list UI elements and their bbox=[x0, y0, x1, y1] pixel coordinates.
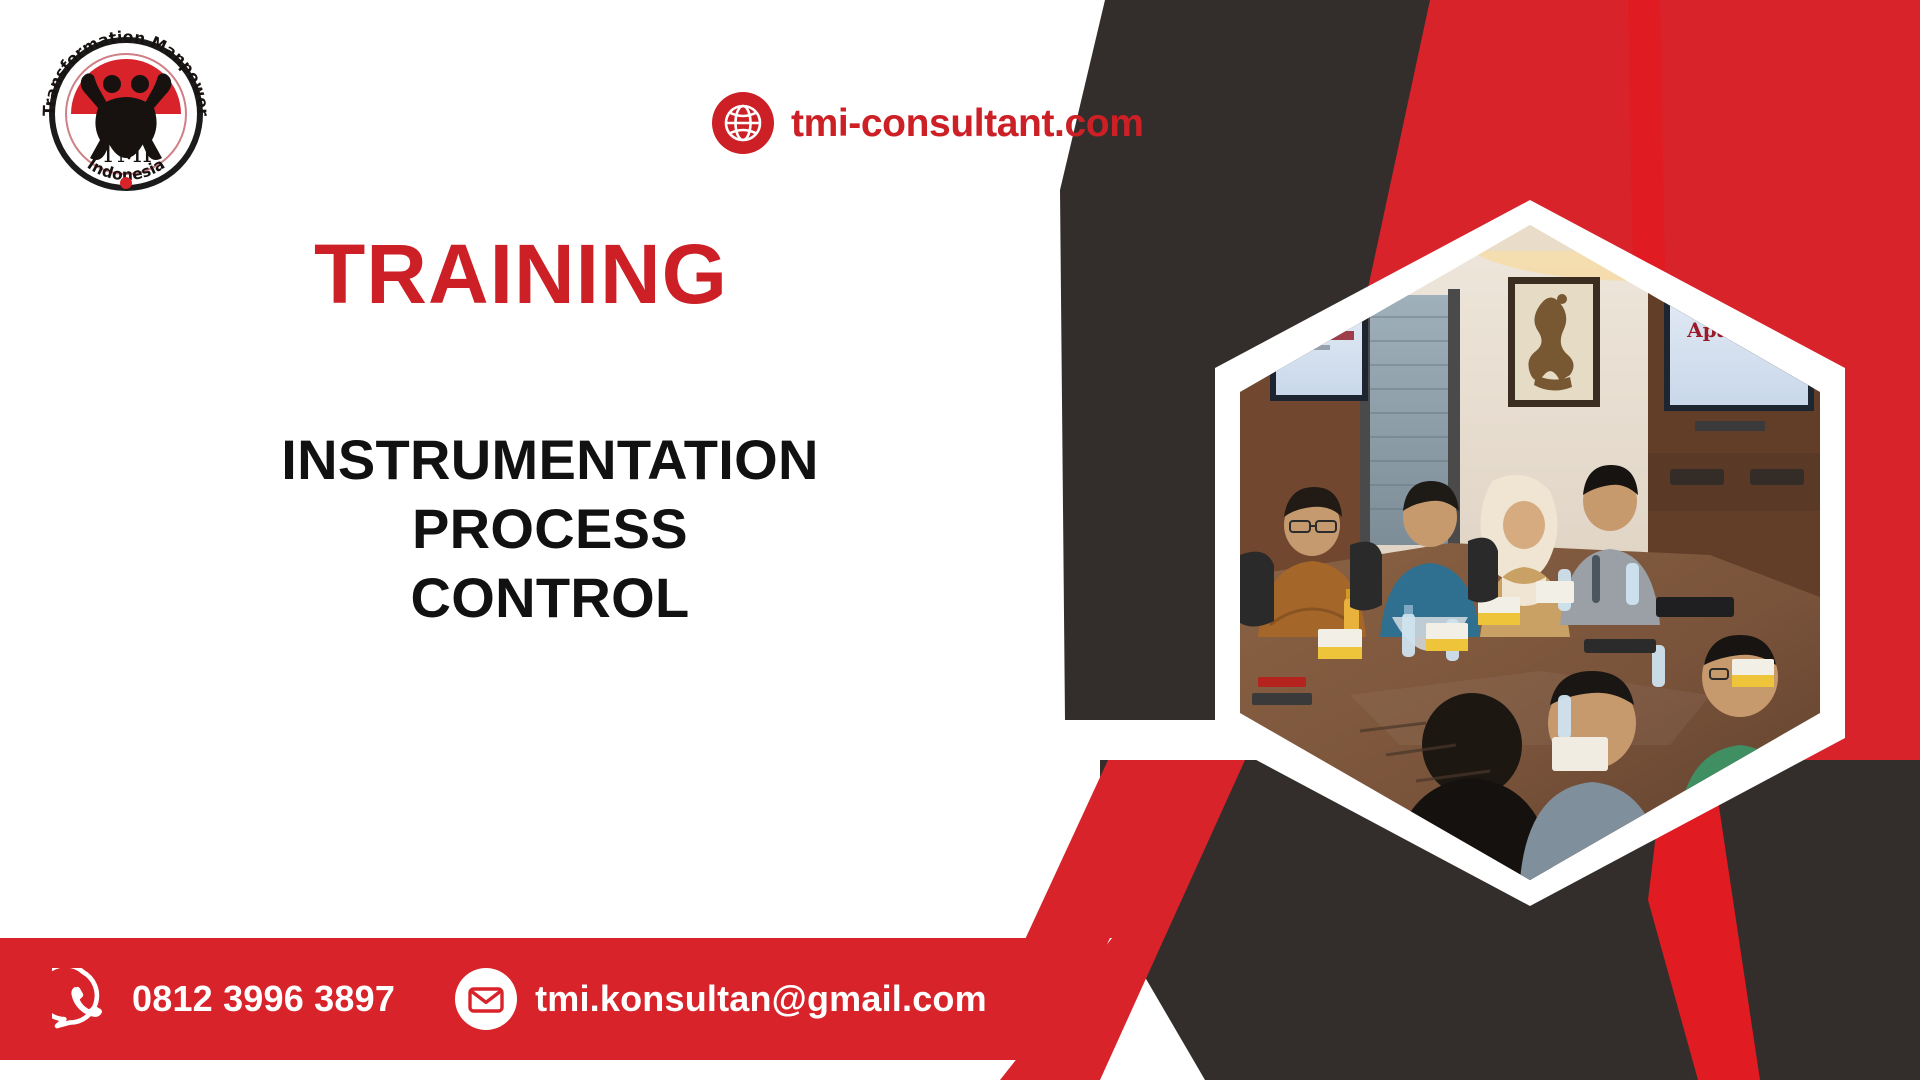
globe-icon bbox=[712, 92, 774, 154]
kicker-training: TRAINING bbox=[314, 232, 728, 316]
poster-canvas: Apa Yang bbox=[0, 0, 1920, 1080]
email-contact[interactable]: tmi.konsultan@gmail.com bbox=[455, 968, 987, 1030]
phone-contact[interactable]: 0812 3996 3897 bbox=[52, 968, 395, 1030]
logo-dot bbox=[120, 177, 132, 189]
course-title-line-1: INSTRUMENTATION bbox=[100, 426, 1000, 495]
tmi-logo-mark: TMI Transformation Manpower Indonesia bbox=[32, 18, 220, 196]
phone-text: 0812 3996 3897 bbox=[132, 981, 395, 1017]
course-title-line-2: PROCESS bbox=[100, 495, 1000, 564]
course-title: INSTRUMENTATION PROCESS CONTROL bbox=[100, 426, 1000, 633]
tmi-logo: TMI Transformation Manpower Indonesia bbox=[32, 18, 220, 196]
website-row[interactable]: tmi-consultant.com bbox=[712, 92, 1143, 154]
envelope-icon bbox=[455, 968, 517, 1030]
email-text: tmi.konsultan@gmail.com bbox=[535, 981, 987, 1017]
course-title-line-3: CONTROL bbox=[100, 564, 1000, 633]
whatsapp-icon bbox=[52, 968, 114, 1030]
contact-bar: 0812 3996 3897 tmi.konsultan@gmail.com bbox=[0, 938, 1110, 1060]
website-text: tmi-consultant.com bbox=[791, 104, 1143, 143]
